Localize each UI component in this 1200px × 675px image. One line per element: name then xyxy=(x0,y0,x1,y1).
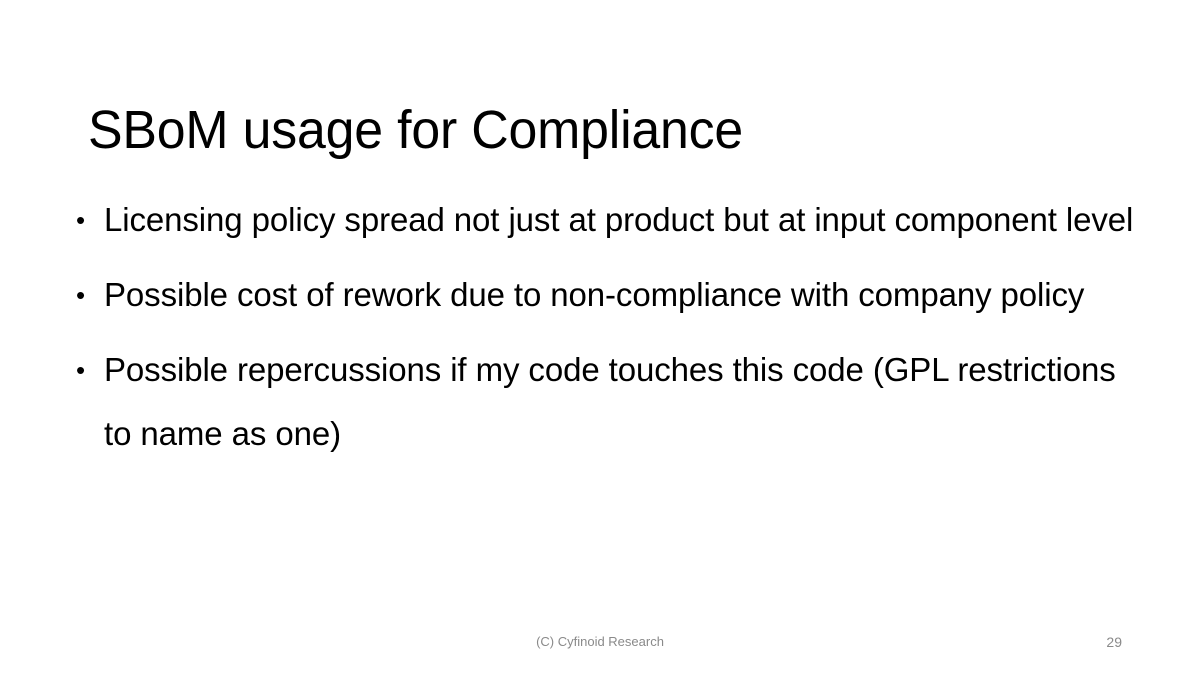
list-item: • Possible cost of rework due to non-com… xyxy=(72,263,1152,327)
list-item-text: Possible repercussions if my code touche… xyxy=(104,338,1152,466)
bullet-point-icon: • xyxy=(76,188,96,252)
copyright-note: (C) Cyfinoid Research xyxy=(0,632,1200,652)
bullet-point-icon: • xyxy=(76,338,96,402)
slide-footer: (C) Cyfinoid Research 29 xyxy=(0,632,1200,656)
list-item: • Possible repercussions if my code touc… xyxy=(72,338,1152,466)
page-title: SBoM usage for Compliance xyxy=(88,100,1086,160)
list-item-text: Possible cost of rework due to non-compl… xyxy=(104,263,1152,327)
presentation-slide: SBoM usage for Compliance • Licensing po… xyxy=(0,0,1200,675)
slide-number: 29 xyxy=(1106,632,1122,652)
list-item-text: Licensing policy spread not just at prod… xyxy=(104,188,1152,252)
list-item: • Licensing policy spread not just at pr… xyxy=(72,188,1152,252)
bullet-point-icon: • xyxy=(76,263,96,327)
bullet-list: • Licensing policy spread not just at pr… xyxy=(72,188,1152,466)
